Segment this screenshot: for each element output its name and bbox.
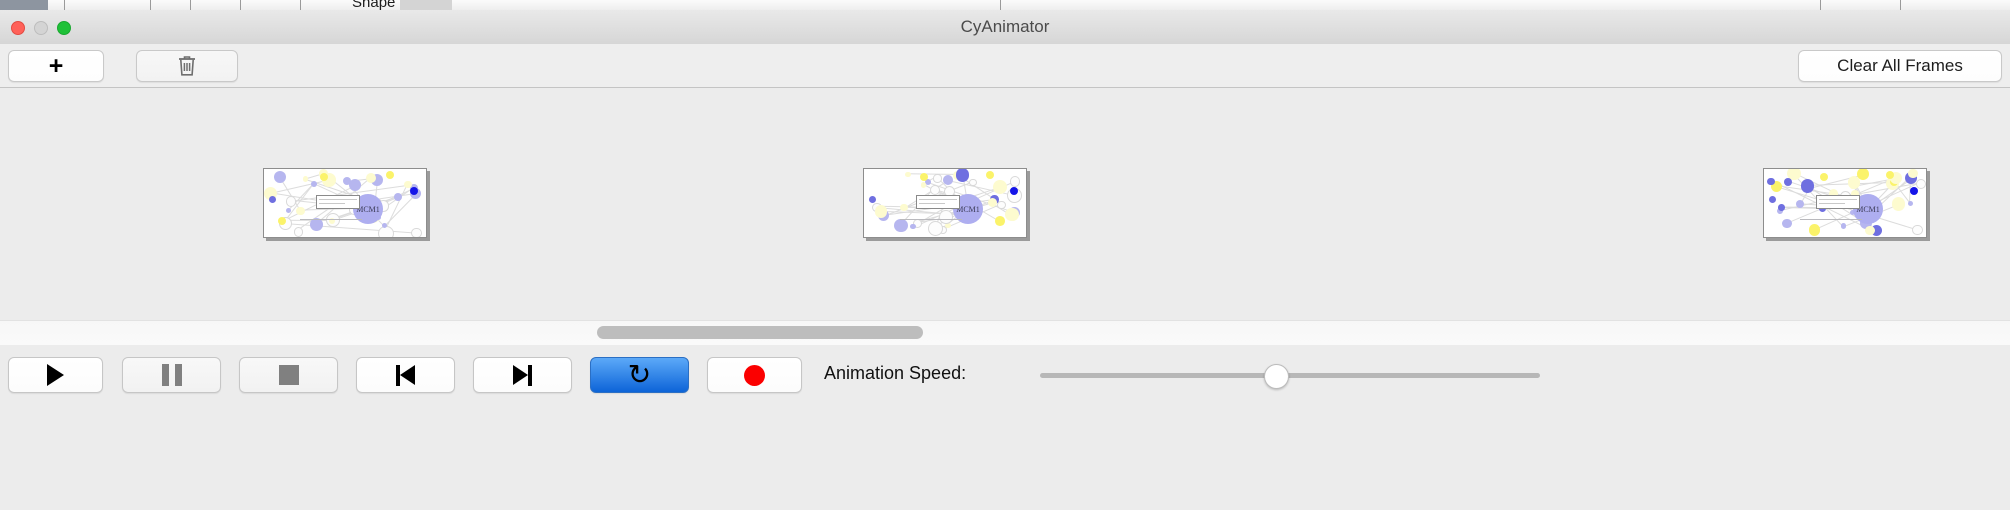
frame-thumbnail[interactable]: MCM1 <box>263 168 427 238</box>
network-tooltip-box <box>916 195 960 209</box>
network-tooltip-box <box>1816 195 1860 209</box>
network-node <box>1865 226 1875 236</box>
network-node <box>943 175 953 185</box>
network-node <box>905 172 911 178</box>
network-graph-preview: MCM1 <box>864 169 1026 237</box>
background-grid-line <box>1820 0 1821 10</box>
network-graph-preview: MCM1 <box>264 169 426 237</box>
network-tooltip-text-line <box>319 203 345 204</box>
network-node <box>1767 178 1774 185</box>
pause-button[interactable] <box>122 357 221 393</box>
network-node <box>303 176 309 182</box>
network-node <box>378 226 393 238</box>
background-grid-line <box>240 0 241 10</box>
network-node-accent <box>386 171 394 179</box>
network-node <box>1892 197 1906 211</box>
network-node <box>933 174 941 182</box>
stop-button[interactable] <box>239 357 338 393</box>
frame-thumbnail[interactable]: MCM1 <box>1763 168 1927 238</box>
network-node-accent <box>1820 173 1828 181</box>
play-icon <box>47 364 64 386</box>
network-node <box>1809 224 1820 235</box>
frame-thumbnail[interactable]: MCM1 <box>863 168 1027 238</box>
network-tooltip-text-line <box>1819 199 1857 200</box>
skip-end-button[interactable] <box>473 357 572 393</box>
network-node <box>1778 204 1785 211</box>
network-node <box>875 205 887 217</box>
background-grid-line <box>1000 0 1001 10</box>
animation-speed-slider-thumb[interactable] <box>1264 364 1289 389</box>
network-node <box>969 179 977 187</box>
network-tooltip-box <box>316 195 360 209</box>
skip-start-button[interactable] <box>356 357 455 393</box>
network-node <box>394 193 402 201</box>
network-node <box>349 179 362 192</box>
network-node <box>928 221 943 236</box>
background-grid-line <box>190 0 191 10</box>
network-node <box>921 182 926 187</box>
network-node <box>296 207 304 215</box>
trash-icon <box>176 54 198 78</box>
network-node <box>993 180 1007 194</box>
window-title: CyAnimator <box>0 10 2010 44</box>
background-grid-line <box>300 0 301 10</box>
network-node <box>910 224 915 229</box>
network-node <box>1916 179 1926 189</box>
background-grid-line <box>150 0 151 10</box>
add-frame-button[interactable]: + <box>8 50 104 82</box>
network-tooltip-text-line <box>919 199 957 200</box>
pause-icon <box>162 364 182 386</box>
timeline-panel[interactable]: MCM1MCM1MCM1 2131415161718 Seconds <box>0 88 2010 320</box>
network-node <box>1784 178 1792 186</box>
record-button[interactable] <box>707 357 802 393</box>
network-node <box>1005 208 1019 222</box>
network-node-accent <box>920 173 928 181</box>
loop-button[interactable]: ↻ <box>590 357 689 393</box>
network-caption-line <box>300 219 362 220</box>
skip-forward-icon <box>513 365 532 386</box>
network-node <box>311 181 317 187</box>
network-node <box>278 217 286 225</box>
animation-speed-label: Animation Speed: <box>824 363 966 384</box>
animation-speed-slider-track[interactable] <box>1040 373 1540 378</box>
timeline-scrollbar-thumb[interactable] <box>597 326 923 339</box>
playback-control-bar: ↻ Animation Speed: <box>0 345 2010 510</box>
network-node <box>1908 201 1914 207</box>
network-node-accent <box>1769 196 1776 203</box>
background-grid-line <box>64 0 65 10</box>
network-node-accent <box>1910 187 1918 195</box>
plus-icon: + <box>49 54 64 79</box>
toolbar: + Clear All Frames <box>0 44 2010 88</box>
network-node-accent <box>869 196 876 203</box>
network-node <box>1010 176 1021 187</box>
background-window-gray-cell <box>400 0 452 10</box>
network-node <box>274 171 286 183</box>
loop-icon: ↻ <box>628 361 651 389</box>
stop-icon <box>279 365 299 385</box>
network-node-accent <box>269 196 276 203</box>
network-node-accent <box>1886 171 1894 179</box>
network-tooltip-text-line <box>1819 203 1845 204</box>
network-node-accent <box>410 187 418 195</box>
clear-all-frames-label: Clear All Frames <box>1837 56 1963 76</box>
network-node-accent <box>986 171 994 179</box>
network-node <box>894 219 907 232</box>
network-caption-line <box>900 219 962 220</box>
network-tooltip-text-line <box>919 203 945 204</box>
network-node <box>1782 219 1792 229</box>
network-caption-line <box>1800 219 1862 220</box>
skip-backward-icon <box>396 365 415 386</box>
network-node <box>939 210 953 224</box>
network-node <box>1841 223 1847 229</box>
cyanimator-window: Shape CyAnimator + Clear All Frames <box>0 0 2010 510</box>
network-node <box>988 198 997 207</box>
network-graph-preview: MCM1 <box>1764 169 1926 237</box>
network-node-accent <box>1010 187 1018 195</box>
title-bar: CyAnimator <box>0 10 2010 45</box>
timeline-scrollbar-track[interactable] <box>0 320 2010 346</box>
network-node <box>995 216 1005 226</box>
delete-frame-button[interactable] <box>136 50 238 82</box>
network-node-accent <box>320 173 328 181</box>
record-icon <box>744 365 765 386</box>
network-node <box>997 201 1006 210</box>
background-grid-line <box>1900 0 1901 10</box>
network-tooltip-text-line <box>319 199 357 200</box>
background-window-dark-cell <box>0 0 48 10</box>
network-node <box>294 227 303 236</box>
clear-all-frames-button[interactable]: Clear All Frames <box>1798 50 2002 82</box>
network-node <box>286 196 296 206</box>
network-node <box>1912 225 1922 235</box>
network-node <box>411 228 422 238</box>
play-button[interactable] <box>8 357 103 393</box>
